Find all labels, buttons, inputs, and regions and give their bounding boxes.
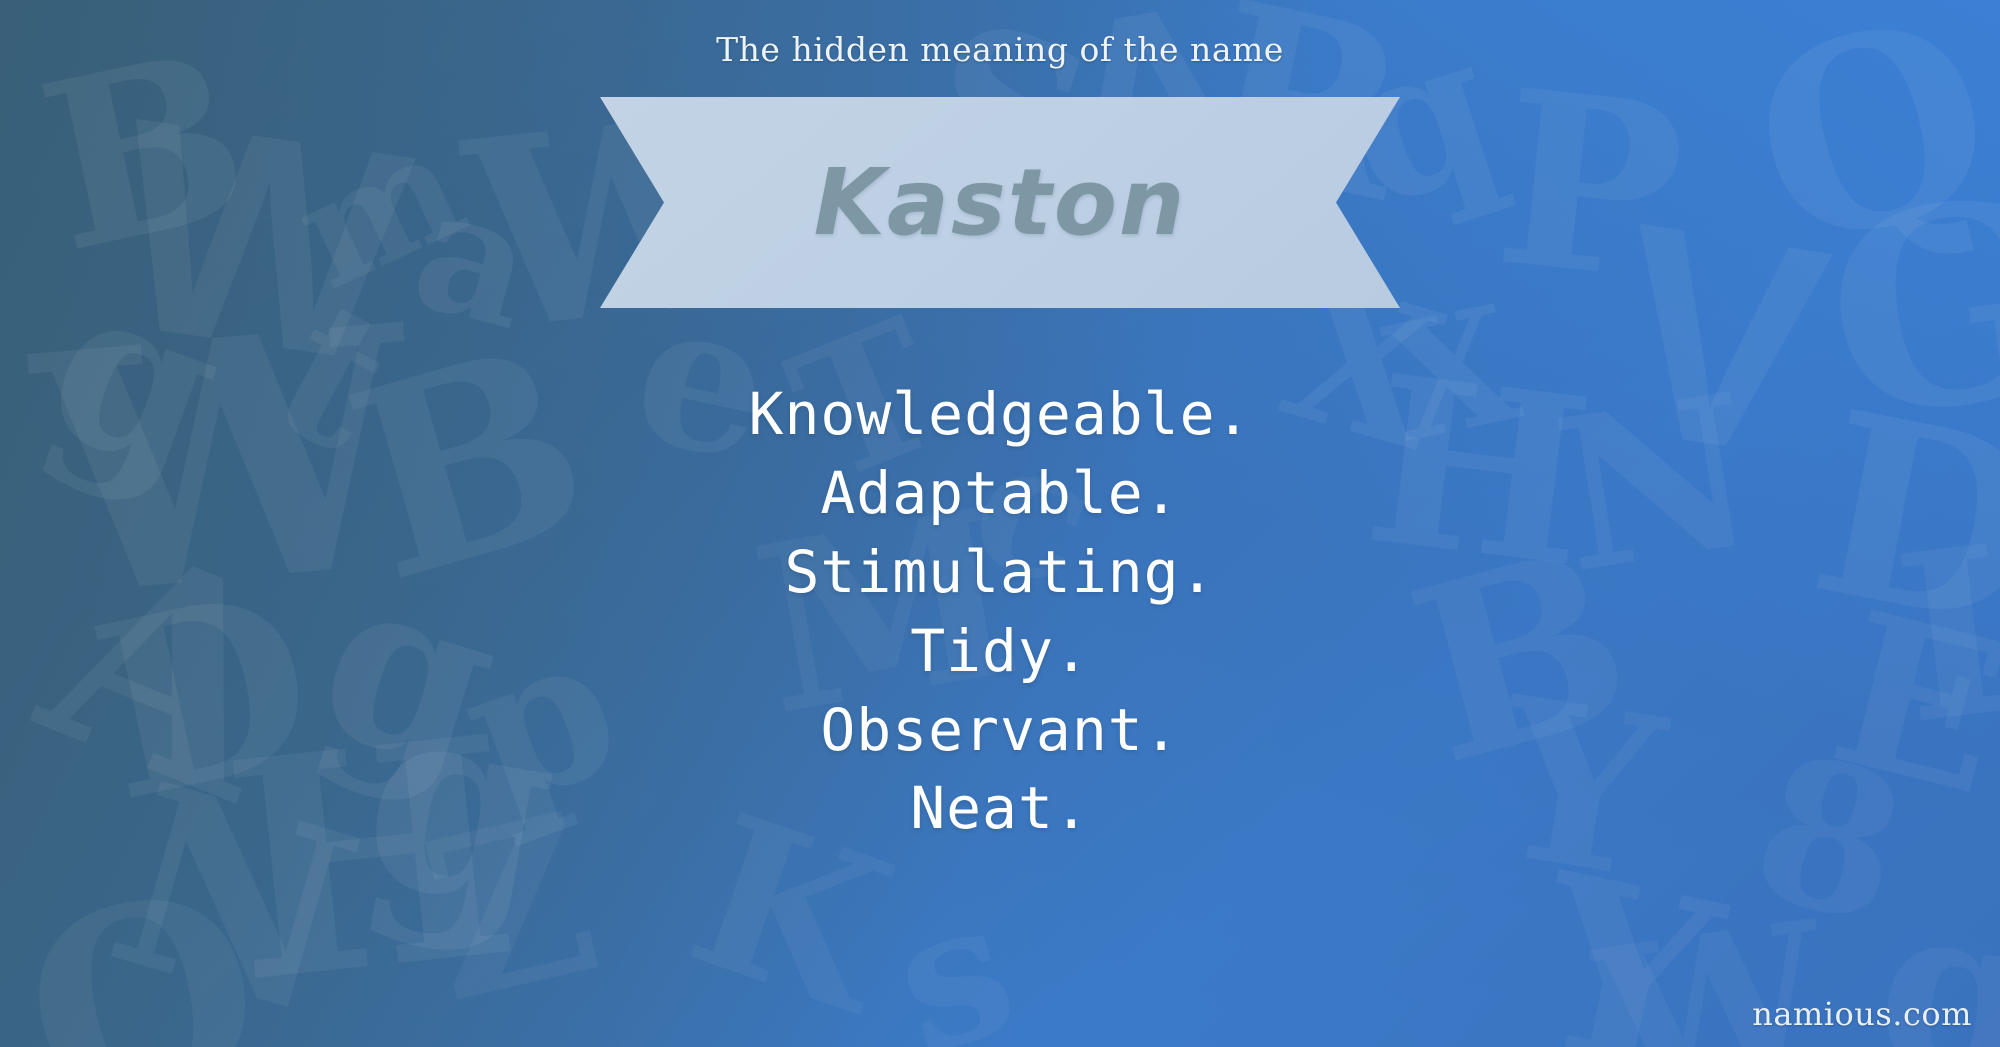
watermark-glyph: m bbox=[282, 122, 477, 298]
watermark-glyph: Y bbox=[1522, 864, 1730, 1047]
page-title: The hidden meaning of the name bbox=[0, 30, 2000, 69]
meaning-list: Knowledgeable.Adaptable.Stimulating.Tidy… bbox=[0, 375, 2000, 848]
watermark-glyph: B bbox=[31, 42, 259, 262]
meaning-line: Neat. bbox=[0, 769, 2000, 848]
meaning-line: Knowledgeable. bbox=[0, 375, 2000, 454]
name-heading: Kaston bbox=[600, 97, 1400, 308]
watermark-glyph: W bbox=[105, 101, 419, 378]
meaning-line: Tidy. bbox=[0, 612, 2000, 691]
watermark-glyph: a bbox=[404, 178, 546, 338]
watermark-glyph: P bbox=[1490, 81, 1690, 291]
site-watermark: namious.com bbox=[1752, 995, 1972, 1033]
name-text: Kaston bbox=[814, 149, 1187, 256]
watermark-glyph: s bbox=[880, 888, 1027, 1047]
watermark-glyph: Q bbox=[12, 880, 274, 1047]
name-meaning-card: BWmaWSARqPQVGgWtBeTXXHNDLEADgpgBYHNZYWgQ… bbox=[0, 0, 2000, 1047]
meaning-line: Stimulating. bbox=[0, 533, 2000, 612]
meaning-line: Adaptable. bbox=[0, 454, 2000, 533]
meaning-line: Observant. bbox=[0, 691, 2000, 770]
